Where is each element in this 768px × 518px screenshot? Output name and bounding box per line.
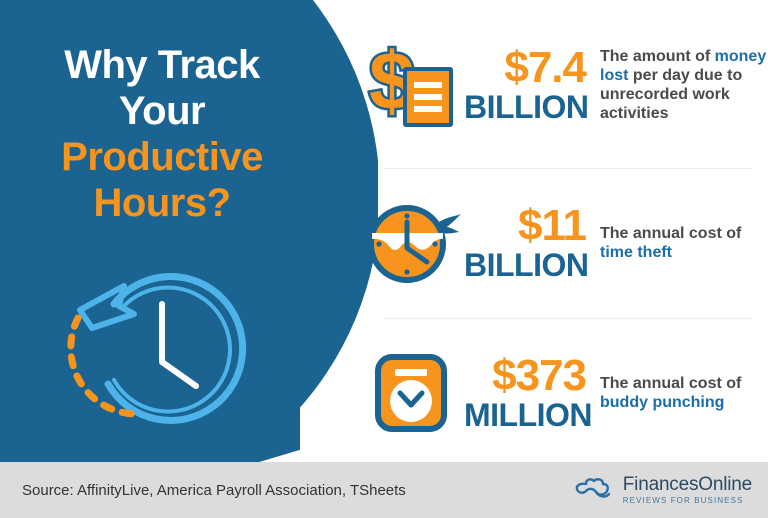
orange-clock-icon [365,200,461,286]
desc-part: The annual cost of [600,225,741,242]
stat-amount: $7.4 [464,46,586,90]
stat-icon-cell [362,200,464,286]
stat-unit: BILLION [464,248,586,282]
brand-logo[interactable]: FinancesOnline REVIEWS FOR BUSINESS [573,475,752,505]
stat-row: $11 BILLION The annual cost of time thef… [362,180,768,306]
footer-bar: Source: AffinityLive, America Payroll As… [0,462,768,518]
stat-divider-2 [384,318,752,319]
desc-part: The amount of [600,48,715,65]
stat-unit: MILLION [464,398,586,432]
title-line-3: Productive [12,134,312,180]
stat-icon-cell: $ [362,37,464,133]
stat-icon-cell [362,351,464,435]
desc-part: The annual cost of [600,375,741,392]
clock-refresh-icon [62,262,282,447]
stat-value-cell: $7.4 BILLION [464,46,594,124]
source-credit: Source: AffinityLive, America Payroll As… [22,482,406,499]
dollar-document-icon: $ [367,37,459,133]
desc-highlight: time theft [600,244,672,261]
stat-amount: $373 [464,354,586,398]
logo-tagline: REVIEWS FOR BUSINESS [623,497,752,505]
stat-amount: $11 [464,204,586,248]
logo-name: FinancesOnline [623,475,752,494]
page-title: Why Track Your Productive Hours? [12,42,312,226]
title-line-1: Why Track [12,42,312,88]
stat-value-cell: $373 MILLION [464,354,594,432]
stat-description: The annual cost of time theft [594,224,768,262]
stat-row: $ $7.4 BILLION The amount of money lost … [362,22,768,148]
stat-value-cell: $11 BILLION [464,204,594,282]
stat-description: The amount of money lost per day due to … [594,47,768,123]
stat-description: The annual cost of buddy punching [594,374,768,412]
punch-clock-icon [373,351,453,435]
stats-column: $ $7.4 BILLION The amount of money lost … [362,0,768,455]
stat-divider-1 [384,168,752,169]
title-line-2: Your [12,88,312,134]
logo-text: FinancesOnline REVIEWS FOR BUSINESS [623,475,752,505]
desc-highlight: buddy punching [600,394,724,411]
infographic-root: Why Track Your Productive Hours? [0,0,768,518]
stat-unit: BILLION [464,90,586,124]
title-line-4: Hours? [12,180,312,226]
clock-refresh-illustration [62,262,282,447]
cloud-infinity-logo-icon [573,475,615,505]
stat-row: $373 MILLION The annual cost of buddy pu… [362,330,768,456]
